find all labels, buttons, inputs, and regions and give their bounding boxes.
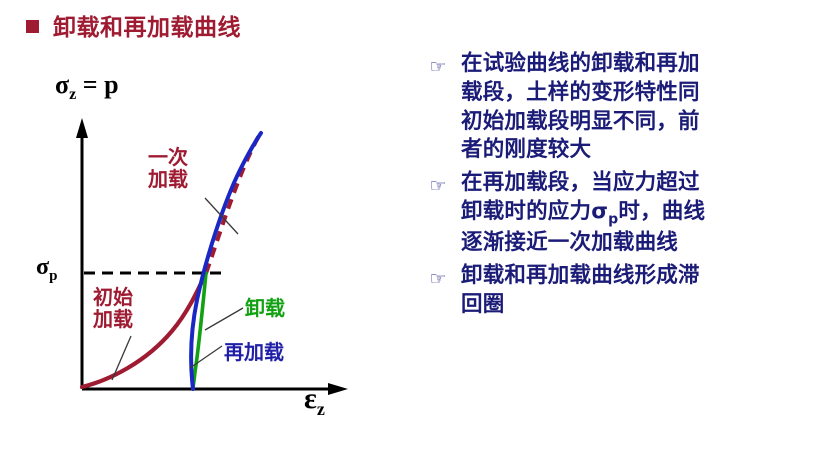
sigma-p-subscript: p (49, 268, 57, 284)
pointing-hand-icon: ☞ (415, 169, 461, 196)
bullet-item-2-line-3: 逐渐接近一次加载曲线 (461, 229, 825, 258)
annotation-primary-loading: 一次 加载 (148, 146, 188, 191)
bullet-item-3-text: 卸载和再加载曲线形成滞 回圈 (461, 262, 825, 320)
sigma-p-tick-label: σp (36, 254, 57, 285)
bullet-item-1-text: 在试验曲线的卸载和再加 载段，土样的变形特性同 初始加载段明显不同，前 者的刚度… (461, 50, 825, 165)
bullet-item-1-line-4: 者的刚度较大 (461, 136, 825, 165)
annotation-unloading: 卸载 (245, 297, 285, 319)
pointing-hand-icon: ☞ (415, 50, 461, 77)
sigma-p-symbol: σ (36, 254, 49, 280)
annotation-primary-loading-line2: 加载 (148, 168, 188, 190)
reloading-leader-line (190, 346, 222, 368)
page-title: 卸载和再加载曲线 (53, 8, 241, 42)
bullet-item-2-line-1: 在再加载段，当应力超过 (461, 169, 825, 198)
y-axis-label-rest: = p (76, 70, 118, 99)
bullet-item-3-line-1: 卸载和再加载曲线形成滞 (461, 262, 825, 291)
bullet-item-3: ☞ 卸载和再加载曲线形成滞 回圈 (415, 262, 825, 320)
bullet-item-2-line-2: 卸载时的应力σp时，曲线 (461, 198, 825, 229)
bullet-item-3-line-2: 回圈 (461, 291, 825, 320)
annotation-initial-loading-line1: 初始 (93, 286, 133, 308)
x-axis-label: εz (304, 382, 325, 420)
annotation-primary-loading-line1: 一次 (148, 146, 188, 168)
stress-strain-figure: σz = p εz σp 一次 加载 初始 加载 卸载 再加载 (0, 46, 410, 452)
annotation-initial-loading: 初始 加载 (93, 286, 133, 331)
curve-plot-svg (0, 46, 410, 452)
slide-title: 卸载和再加载曲线 (26, 8, 241, 42)
y-axis (76, 118, 88, 389)
pointing-hand-icon: ☞ (415, 262, 461, 289)
bullet-item-2-text: 在再加载段，当应力超过 卸载时的应力σp时，曲线 逐渐接近一次加载曲线 (461, 169, 825, 258)
title-bullet-square-icon (26, 20, 39, 33)
primary-loading-leader-line (205, 198, 238, 234)
y-axis-label-symbol: σ (55, 70, 69, 99)
annotation-reloading: 再加载 (224, 341, 284, 363)
bullet-item-1-line-1: 在试验曲线的卸载和再加 (461, 50, 825, 79)
annotation-initial-loading-line2: 加载 (93, 308, 133, 330)
y-axis-label: σz = p (55, 70, 119, 104)
bullet-item-1: ☞ 在试验曲线的卸载和再加 载段，土样的变形特性同 初始加载段明显不同，前 者的… (415, 50, 825, 165)
bullet-list: ☞ 在试验曲线的卸载和再加 载段，土样的变形特性同 初始加载段明显不同，前 者的… (415, 50, 825, 323)
bullet-item-1-line-2: 载段，土样的变形特性同 (461, 79, 825, 108)
x-axis-label-symbol: ε (304, 382, 317, 415)
bullet-item-2: ☞ 在再加载段，当应力超过 卸载时的应力σp时，曲线 逐渐接近一次加载曲线 (415, 169, 825, 258)
primary-loading-dashed-curve (206, 134, 260, 273)
unloading-leader-line (205, 308, 243, 330)
x-axis-label-subscript: z (317, 399, 325, 419)
bullet-item-1-line-3: 初始加载段明显不同，前 (461, 108, 825, 137)
